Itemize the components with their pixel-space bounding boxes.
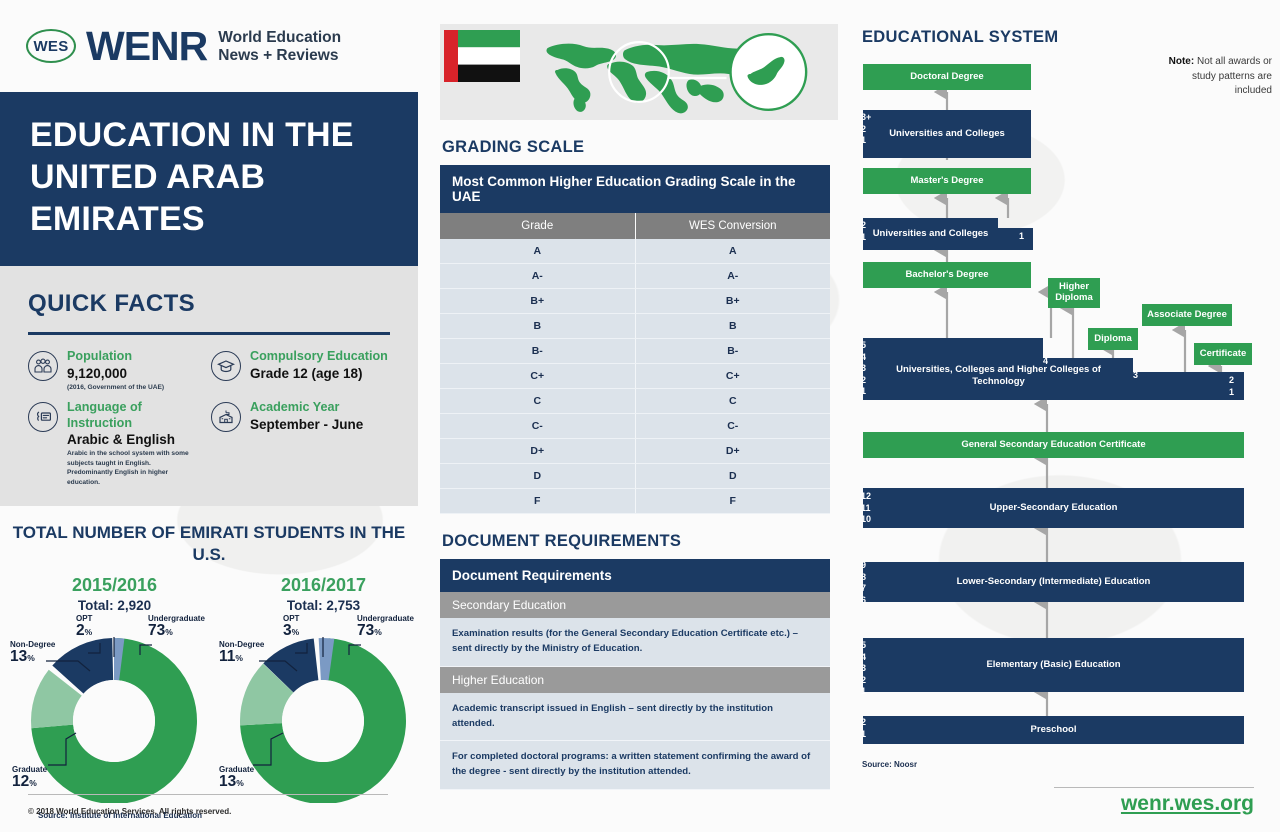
box-bachelors-degree: Bachelor's Degree [863,262,1031,288]
donut-label-non-degree: Non-Degree 13% [10,641,55,666]
quick-fact-value: Grade 12 (age 18) [250,366,388,381]
table-header-row: Grade WES Conversion [440,213,830,239]
table-row: C-C- [440,414,830,439]
table-row: C+C+ [440,364,830,389]
cell-grade: A [440,239,635,264]
box-elementary-education: Elementary (Basic) Education [863,638,1244,692]
donut-value-graduate: 13% [219,773,244,790]
cell-conversion: C- [635,414,830,439]
divider [28,332,390,335]
levels-preschool: 2 1 [861,717,866,740]
copyright-text: © 2018 World Education Services. All rig… [28,807,388,816]
box-doctoral-degree: Doctoral Degree [863,64,1031,90]
levels-upper-secondary: 12 11 10 [861,491,871,526]
cell-grade: D+ [440,439,635,464]
donut-value-graduate: 12% [12,773,37,790]
wenr-tagline-line1: World Education [218,29,341,47]
box-general-secondary-education-certificate: General Secondary Education Certificate [863,432,1244,458]
quick-fact-note: (2016, Government of the UAE) [67,383,164,393]
quick-fact-note: Arabic in the school system with some su… [67,449,197,489]
table-row: DD [440,464,830,489]
donut-value-non-degree: 13% [10,648,35,665]
donut-year: 2015/2016 [10,575,219,596]
requirement-row: For completed doctoral programs: a writt… [440,741,830,790]
quick-facts-heading: QUICK FACTS [28,290,390,318]
wenr-wordmark: WENR [86,23,207,70]
donut-value-non-degree: 11% [219,648,243,665]
quick-fact-value: Arabic & English [67,432,207,447]
grading-scale-table: Most Common Higher Education Grading Sca… [440,165,830,514]
donut-charts-panel: TOTAL NUMBER OF EMIRATI STUDENTS IN THE … [0,506,418,820]
table-row: B-B- [440,339,830,364]
donut-label-non-degree: Non-Degree 11% [219,641,264,666]
box-uct-label: Universities, Colleges and Higher Colleg… [874,364,1124,388]
cell-conversion: F [635,489,830,514]
wenr-tagline: World Education News + Reviews [218,29,341,66]
box-lower-secondary-education: Lower-Secondary (Intermediate) Education [863,562,1244,602]
grading-table-caption: Most Common Higher Education Grading Sca… [440,165,830,213]
donut-value-undergraduate: 73% [357,622,382,639]
people-icon [28,351,58,381]
cell-conversion: A [635,239,830,264]
donut-label-opt: OPT 2% [76,615,92,640]
cell-conversion: B- [635,339,830,364]
donut-hole [282,680,364,762]
box-higher-diploma: Higher Diploma [1048,278,1100,308]
requirement-row: Academic transcript issued in English – … [440,693,830,741]
levels-uct-step-4: 4 [1043,356,1048,368]
cell-conversion: A- [635,264,830,289]
document-requirements-table: Document Requirements Secondary Educatio… [440,559,830,790]
section-label: Higher Education [440,666,830,693]
donut-hole [73,680,155,762]
donut-chart-2015-2016: 2015/2016 Total: 2,920 [10,575,219,803]
requirement-row: Examination results (for the General Sec… [440,618,830,666]
table-row: BB [440,314,830,339]
table-row: D+D+ [440,439,830,464]
cell-conversion: C+ [635,364,830,389]
cell-grade: C- [440,414,635,439]
levels-uct-right: 2 1 [1229,375,1234,398]
document-requirements-heading: DOCUMENT REQUIREMENTS [442,532,838,551]
donut-chart-2016-2017: 2016/2017 Total: 2,753 [219,575,428,803]
middle-column: GRADING SCALE Most Common Higher Educati… [440,0,838,790]
table-row: CC [440,389,830,414]
quick-fact-label: Language of Instruction [67,400,207,430]
quick-fact-label: Population [67,349,164,364]
levels-masters-left: 2 1 [861,220,866,243]
box-universities-colleges-doctoral: Universities and Colleges [863,110,1031,158]
donut-total: Total: 2,920 [10,598,219,613]
donut-graphic-wrap: OPT 2% Undergraduate 73% Non-Degree 13% … [10,613,219,803]
requirement-text: Examination results (for the General Sec… [440,618,830,666]
donut-label-graduate: Graduate 13% [219,766,254,791]
page-title: EDUCATION IN THE UNITED ARAB EMIRATES [30,114,388,240]
wenr-tagline-line2: News + Reviews [218,47,341,65]
quick-fact-value: September - June [250,417,363,432]
cell-conversion: C [635,389,830,414]
cell-grade: C [440,389,635,414]
table-row: A-A- [440,264,830,289]
wes-logo-text: WES [33,38,68,55]
table-row: B+B+ [440,289,830,314]
system-source: Source: Noosr [862,760,917,769]
wes-logo-icon: WES [26,29,76,63]
donut-graphic-wrap: OPT 3% Undergraduate 73% Non-Degree 11% … [219,613,428,803]
quick-fact-label: Compulsory Education [250,349,388,364]
levels-lower-secondary: 9 8 7 6 [861,560,866,606]
hero-map-banner [440,24,838,120]
quick-facts-panel: QUICK FACTS Population 9,120,000 (2016 [0,266,418,506]
quick-fact-population: Population 9,120,000 (2016, Government o… [28,349,207,392]
cell-conversion: D+ [635,439,830,464]
levels-masters-right: 1 [1019,231,1024,243]
cell-grade: B- [440,339,635,364]
quick-facts-grid: Population 9,120,000 (2016, Government o… [28,349,390,488]
cell-grade: B [440,314,635,339]
cell-grade: F [440,489,635,514]
quick-fact-language-of-instruction: Language of Instruction Arabic & English… [28,400,207,488]
donut-total: Total: 2,753 [219,598,428,613]
world-map-icon [440,24,838,120]
quick-fact-academic-year: Academic Year September - June [211,400,390,488]
graduation-cap-icon [211,351,241,381]
cell-conversion: D [635,464,830,489]
donut-label-undergraduate: Undergraduate 73% [148,615,205,640]
donut-value-opt: 3% [283,622,299,639]
quick-fact-value: 9,120,000 [67,366,164,381]
box-masters-degree: Master's Degree [863,168,1031,194]
column-header-grade: Grade [440,213,635,239]
school-building-icon [211,402,241,432]
requirement-text: For completed doctoral programs: a writt… [440,741,830,790]
column-header-wes-conversion: WES Conversion [635,213,830,239]
box-universities-colleges-masters: Universities and Colleges [863,218,998,250]
title-banner: EDUCATION IN THE UNITED ARAB EMIRATES [0,92,418,266]
section-label: Secondary Education [440,592,830,618]
cell-grade: D [440,464,635,489]
levels-uct-step-3: 3 [1133,370,1138,382]
donut-year: 2016/2017 [219,575,428,596]
brand-header: WES WENR World Education News + Reviews [0,0,418,92]
grading-scale-heading: GRADING SCALE [442,138,838,157]
donut-value-opt: 2% [76,622,92,639]
box-uct-label-layer: Universities, Colleges and Higher Colleg… [863,338,1244,400]
cell-grade: B+ [440,289,635,314]
box-preschool: Preschool [863,716,1244,744]
requirement-text: Academic transcript issued in English – … [440,693,830,741]
donut-row: 2015/2016 Total: 2,920 [10,575,408,803]
table-row: AA [440,239,830,264]
table-row: FF [440,489,830,514]
left-column: WES WENR World Education News + Reviews … [0,0,418,832]
quick-fact-compulsory-education: Compulsory Education Grade 12 (age 18) [211,349,390,392]
box-universities-colleges-masters-step [995,228,1033,250]
quick-fact-label: Academic Year [250,400,363,415]
section-header-higher-education: Higher Education [440,666,830,693]
cell-grade: C+ [440,364,635,389]
box-upper-secondary-education: Upper-Secondary Education [863,488,1244,528]
levels-uct-left: 5 4 3 2 1 [861,340,866,398]
levels-elementary: 5 4 3 2 1 [861,640,866,698]
right-column: EDUCATIONAL SYSTEM Note: Not all awards … [855,0,1280,832]
donut-value-undergraduate: 73% [148,622,173,639]
donut-label-opt: OPT 3% [283,615,299,640]
section-header-secondary-education: Secondary Education [440,592,830,618]
documents-table-caption: Document Requirements [440,559,830,592]
cell-grade: A- [440,264,635,289]
educational-system-diagram: Doctoral Degree Universities and College… [855,0,1280,790]
cell-conversion: B [635,314,830,339]
donuts-heading: TOTAL NUMBER OF EMIRATI STUDENTS IN THE … [10,522,408,565]
donut-label-undergraduate: Undergraduate 73% [357,615,414,640]
levels-doctoral: 3+ 2 1 [861,112,871,147]
footer-divider-right [1054,787,1254,788]
box-associate-degree: Associate Degree [1142,304,1232,326]
wenr-url-link[interactable]: wenr.wes.org [1121,792,1254,816]
cell-conversion: B+ [635,289,830,314]
footer-divider [28,794,388,795]
speech-language-icon [28,402,58,432]
footer-left: © 2018 World Education Services. All rig… [28,794,388,816]
donut-label-graduate: Graduate 12% [12,766,47,791]
